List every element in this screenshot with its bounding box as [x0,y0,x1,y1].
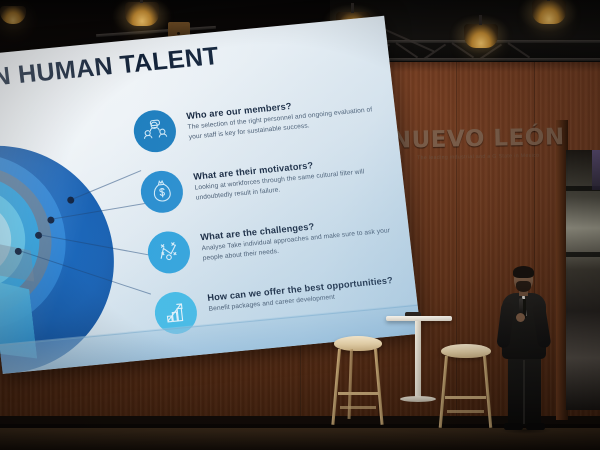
list-item: Who are our members? The selection of th… [132,88,386,160]
money-bag-icon [139,169,186,215]
presenter-shoe [526,423,545,430]
stool-leg [439,356,448,428]
presenter-hair [513,266,534,278]
stool-leg [483,356,492,428]
list-item: What are their motivators? Looking at wo… [139,149,393,221]
presenter-hand [516,313,525,322]
stage-light [125,2,159,26]
projection-screen: ON HUMAN TALENT [0,16,421,374]
nuevo-leon-wall-sign: NUEVO LEÓN The leading industrial and a … [392,124,565,172]
presenter-shoe [504,423,523,430]
presenter-beard [516,281,531,292]
venue-color-sliver [592,150,600,190]
stool-rung [445,396,486,399]
bar-stool-right [438,344,494,430]
venue-beam [566,252,600,257]
stool-rung [340,406,376,409]
stage-light [532,0,566,24]
stool-leg [374,349,384,425]
stool-rung [338,392,378,395]
high-top-table-base [400,396,436,402]
people-group-icon [132,108,179,154]
presenter [494,268,556,430]
high-top-table-column [415,321,421,399]
presenter-leg-split [523,360,525,424]
stool-leg [331,349,341,425]
strategy-board-icon [146,230,193,276]
bar-stool-left [330,336,386,428]
stool-rung [447,410,484,413]
stage-photo: NUEVO LEÓN The leading industrial and a … [0,0,600,450]
sign-title: NUEVO LEÓN [392,124,565,154]
sign-subtitle: The leading industrial and a G State in … [392,152,564,162]
slide-title: ON HUMAN TALENT [0,42,221,95]
list-item: What are the challenges? Analyse Take in… [146,210,400,282]
stage-light [464,24,498,48]
